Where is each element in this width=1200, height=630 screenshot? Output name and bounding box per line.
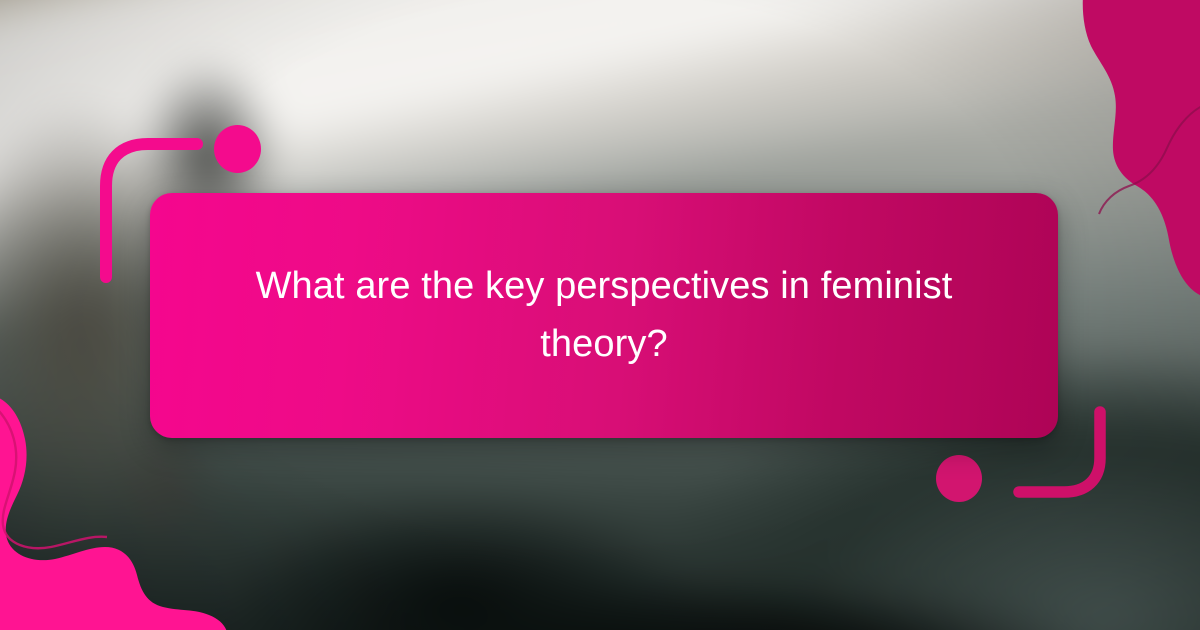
question-card-banner: What are the key perspectives in feminis… <box>0 0 1200 630</box>
decorative-dot-top-left <box>214 125 261 173</box>
question-text: What are the key perspectives in feminis… <box>254 258 954 374</box>
question-card: What are the key perspectives in feminis… <box>150 193 1058 438</box>
decorative-dot-bottom-right <box>936 455 982 502</box>
